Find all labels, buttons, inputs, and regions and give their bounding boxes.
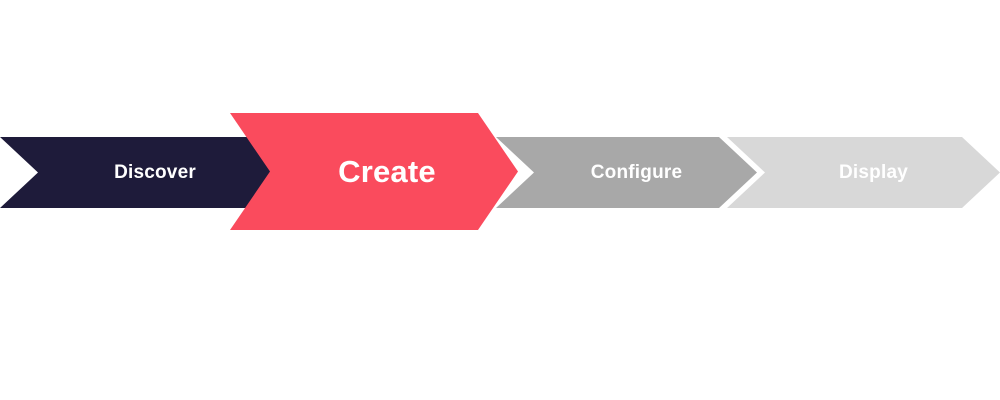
process-step-label: Discover — [92, 163, 196, 182]
process-step-label: Display — [819, 163, 908, 182]
process-step-display[interactable]: Display — [727, 137, 1000, 208]
process-step-configure[interactable]: Configure — [496, 137, 757, 208]
process-step-label: Create — [312, 156, 436, 187]
diagram-canvas: Discover Create Configure Display — [0, 0, 1000, 400]
process-step-label: Configure — [571, 163, 683, 182]
process-step-create[interactable]: Create — [230, 113, 518, 230]
process-step-discover[interactable]: Discover — [0, 137, 288, 208]
chevron-process-flow: Discover Create Configure Display — [0, 0, 1000, 400]
